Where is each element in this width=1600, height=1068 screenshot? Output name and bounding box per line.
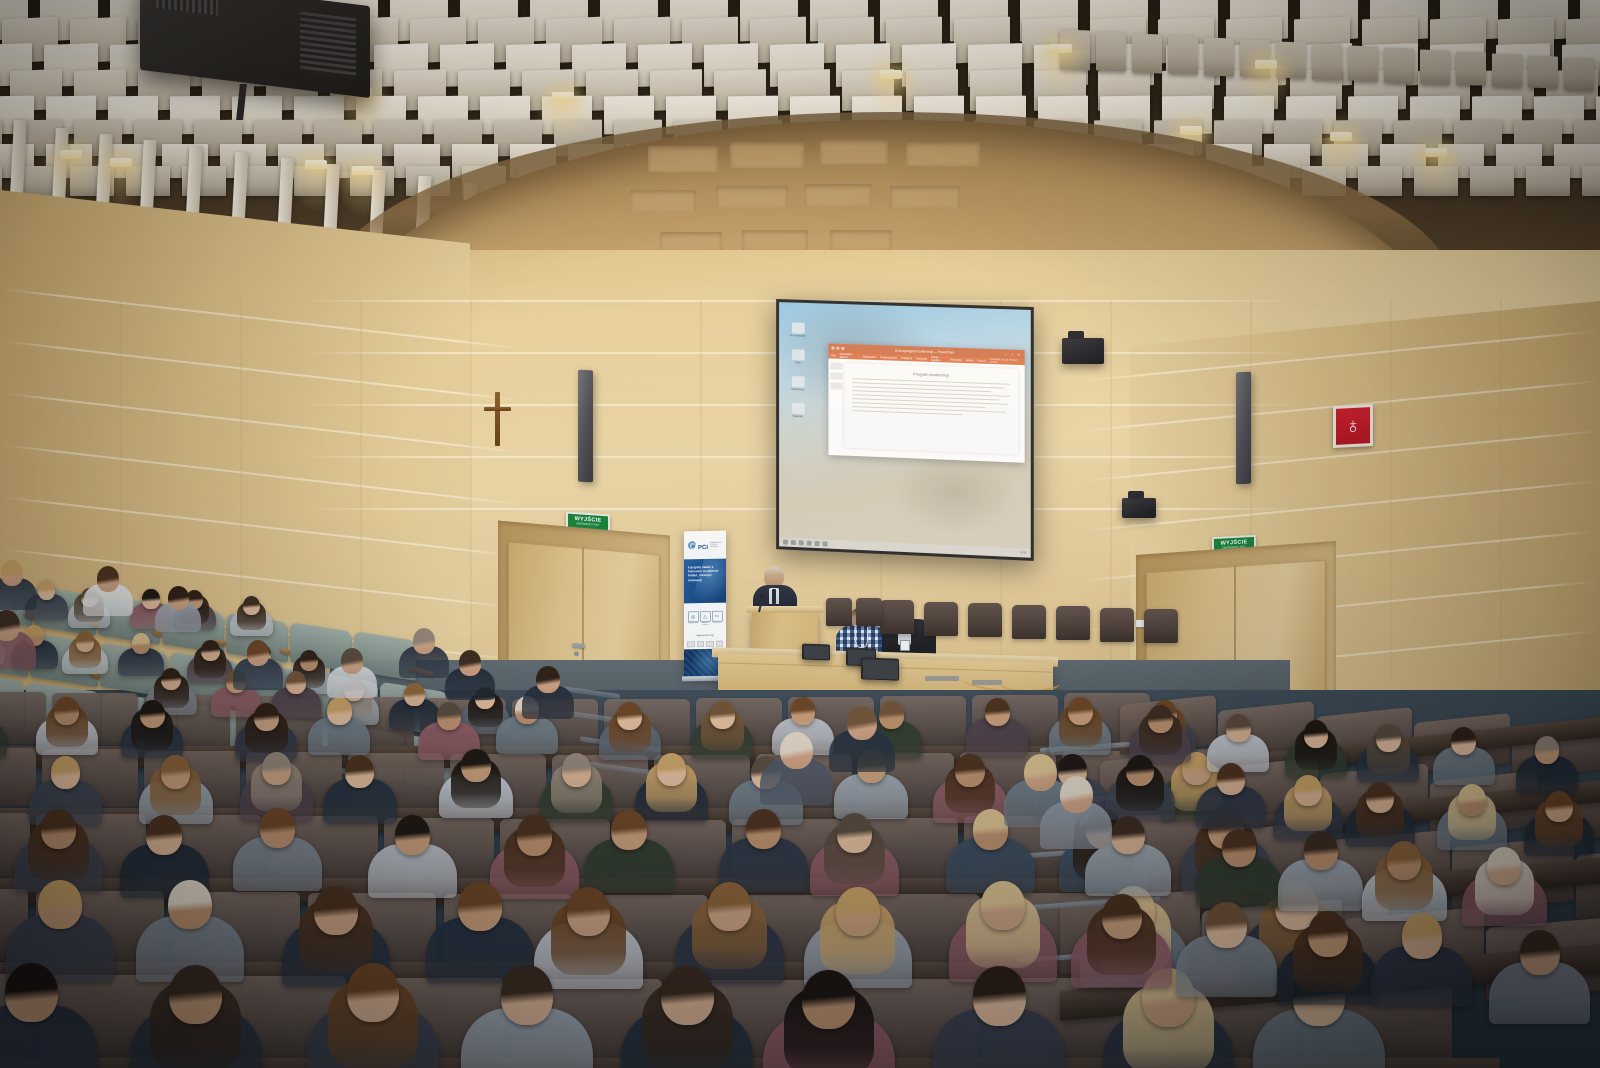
audience-member-head bbox=[1451, 727, 1476, 755]
wall-speaker-box-right bbox=[1062, 338, 1104, 364]
task-view-icon[interactable] bbox=[799, 540, 804, 545]
ribbon-tab-2[interactable]: Wstawianie bbox=[863, 355, 877, 358]
line-array-speaker-right bbox=[1236, 372, 1251, 485]
desktop-icon-ten-komputer[interactable]: Ten komputer bbox=[785, 322, 811, 338]
pci-logo-icon bbox=[688, 541, 696, 549]
presenter-tie bbox=[772, 589, 776, 604]
stage-chair bbox=[1056, 606, 1090, 640]
audience-member-head bbox=[168, 880, 211, 929]
audience-member-head bbox=[1294, 775, 1322, 807]
desk-cable-port-1 bbox=[925, 676, 959, 681]
audience-member-head bbox=[1060, 776, 1093, 813]
ribbon-tab-0[interactable]: Plik bbox=[831, 354, 835, 357]
audience-member-head bbox=[973, 966, 1026, 1026]
audience-member-head bbox=[395, 815, 431, 855]
ribbon-tab-9[interactable]: Pomoc bbox=[977, 359, 985, 362]
projector-vent bbox=[300, 12, 356, 79]
audience-member-head bbox=[247, 640, 270, 666]
audience-member-head bbox=[142, 589, 159, 608]
banner-logo: PCI Podkarpackie Centrum Innowacji bbox=[684, 531, 726, 558]
audience-member-head bbox=[1458, 784, 1486, 816]
audience-member-head bbox=[140, 700, 165, 728]
audience-member-head bbox=[345, 755, 374, 788]
audience-member-head bbox=[1487, 847, 1521, 886]
desktop-icon-list: Ten komputer Kosz Dokumenty Materiały bbox=[785, 322, 811, 430]
wooden-cross-icon bbox=[480, 392, 514, 446]
audience-member-head bbox=[1222, 829, 1256, 868]
ribbon-tab-5[interactable]: Animacje bbox=[916, 357, 927, 360]
stage-chair bbox=[1144, 609, 1178, 643]
quick-access-undo-icon[interactable] bbox=[836, 347, 839, 350]
audience-member-head bbox=[1387, 841, 1421, 880]
ribbon-tab-4[interactable]: Przejścia bbox=[901, 356, 912, 359]
taskbar-clock: 10:42 bbox=[1020, 551, 1027, 554]
audience-member-head bbox=[54, 697, 79, 725]
audience-member-head bbox=[437, 702, 462, 730]
window-controls[interactable]: – □ ✕ bbox=[1005, 352, 1021, 357]
audience-member-head bbox=[161, 755, 190, 788]
audience-member-head bbox=[0, 610, 20, 641]
desktop-icon-materialy[interactable]: Materiały bbox=[785, 403, 811, 419]
audience-member-head bbox=[1, 560, 24, 586]
audience-member-head bbox=[791, 697, 816, 725]
slide-text-line bbox=[852, 410, 962, 416]
audience-member-head bbox=[413, 628, 436, 654]
stage-chair bbox=[826, 598, 852, 626]
audience-member-head bbox=[836, 887, 879, 936]
audience-member-head bbox=[1376, 724, 1401, 752]
audience-member-head bbox=[1024, 754, 1057, 791]
audience-member-head bbox=[847, 706, 877, 740]
audience-member-head bbox=[746, 809, 782, 849]
desktop-icon-dokumenty[interactable]: Dokumenty bbox=[785, 376, 811, 392]
stage-chair bbox=[1012, 605, 1046, 639]
audience-member-head bbox=[459, 650, 482, 676]
powerpoint-window[interactable]: Lista wystąpień konferencji — PowerPoint… bbox=[828, 343, 1024, 462]
audience-member-head bbox=[168, 586, 189, 610]
audience-member-head bbox=[1304, 831, 1338, 870]
stage-chair bbox=[924, 602, 958, 636]
audience-member-head bbox=[562, 753, 591, 786]
ribbon-tab-8[interactable]: Widok bbox=[966, 359, 974, 362]
audience-member-head bbox=[1535, 736, 1560, 764]
audience-member-head bbox=[517, 815, 553, 855]
audience-member-head bbox=[314, 886, 357, 935]
circle-target-icon: ◎ bbox=[688, 611, 699, 622]
search-icon[interactable] bbox=[791, 540, 796, 545]
audience-member-head bbox=[708, 882, 751, 931]
line-array-speaker-left bbox=[578, 370, 593, 483]
banner-icon-row: ◎ Projekty B+R △ Badania i rozwój ✂ Inno… bbox=[684, 603, 726, 629]
audience-member-head bbox=[458, 882, 501, 931]
audience-member-head bbox=[41, 809, 77, 849]
stage-chair bbox=[1100, 608, 1134, 642]
audience-member-head bbox=[661, 966, 714, 1026]
audience-member-head bbox=[132, 633, 151, 654]
audience-member-head bbox=[461, 749, 490, 782]
exit-sign-left-subtext: EMERGENCY EXIT bbox=[576, 523, 599, 527]
audience-member-head bbox=[404, 683, 424, 706]
desktop-icon-kosz[interactable]: Kosz bbox=[785, 349, 811, 365]
audience-member-head bbox=[1520, 930, 1560, 976]
audience-member-head bbox=[97, 566, 120, 592]
projected-desktop: Ten komputer Kosz Dokumenty Materiały Li bbox=[779, 302, 1031, 558]
quick-access-save-icon[interactable] bbox=[831, 347, 834, 350]
stage-chair bbox=[880, 600, 914, 634]
wall-speaker-box-lower bbox=[1122, 498, 1156, 518]
audience-member-head bbox=[146, 815, 182, 855]
polish-coat-of-arms-icon: ♁ bbox=[1333, 404, 1373, 448]
emblem-eagle: ♁ bbox=[1336, 407, 1370, 445]
banner-sponsor-logos bbox=[684, 640, 726, 647]
audience-member-head bbox=[1366, 782, 1394, 814]
tools-icon: ✂ bbox=[712, 611, 723, 622]
laptop-right[interactable] bbox=[861, 657, 899, 680]
audience-member-head bbox=[262, 752, 291, 785]
audience-member-head bbox=[76, 631, 95, 652]
audience-member-head bbox=[38, 580, 55, 599]
document-canvas: Program konferencji bbox=[828, 358, 1024, 462]
stage-chair bbox=[856, 598, 882, 626]
audience-member-head bbox=[169, 965, 222, 1025]
audience-member-head bbox=[1217, 763, 1245, 795]
audience-member-head bbox=[286, 671, 306, 694]
banner-logo-subtitle: Podkarpackie Centrum Innowacji bbox=[710, 541, 722, 548]
audience-member-head bbox=[51, 756, 80, 789]
audience-member-head bbox=[260, 808, 296, 848]
audience-member-head bbox=[254, 703, 279, 731]
powerpoint-taskbar-icon[interactable] bbox=[823, 541, 828, 546]
audience-member-head bbox=[780, 732, 813, 769]
audience-member-head bbox=[981, 881, 1024, 930]
audience-member-head bbox=[1068, 697, 1093, 725]
audience-member-head bbox=[300, 650, 319, 671]
banner-icon-innovation: ✂ Innowacje bbox=[712, 611, 723, 627]
audience-member-head bbox=[327, 697, 352, 725]
audience-member-head bbox=[657, 753, 686, 786]
audience-member-head bbox=[201, 640, 220, 661]
slide-page: Program konferencji bbox=[844, 363, 1018, 455]
audience-member-head bbox=[955, 754, 984, 787]
audience-member-head bbox=[1226, 714, 1251, 742]
projection-screen: Ten komputer Kosz Dokumenty Materiały Li bbox=[776, 299, 1034, 561]
audience-member-head bbox=[611, 810, 647, 850]
audience-member-head bbox=[710, 701, 735, 729]
banner-icon-research: △ Badania i rozwój bbox=[700, 611, 711, 627]
quick-access-redo-icon[interactable] bbox=[841, 347, 844, 350]
browser-icon[interactable] bbox=[815, 541, 820, 546]
audience-member-head bbox=[1206, 902, 1246, 948]
explorer-icon[interactable] bbox=[807, 541, 812, 546]
start-button-icon[interactable] bbox=[783, 540, 788, 545]
banner-claim-panel: Łączymy naukę z biznesem w zakresie bada… bbox=[684, 559, 726, 604]
audience-member-head bbox=[5, 963, 58, 1023]
stage-chair bbox=[968, 603, 1002, 637]
banner-claim-text: Łączymy naukę z biznesem w zakresie bada… bbox=[684, 559, 726, 582]
laptop-left[interactable] bbox=[802, 644, 830, 661]
audience-member-head bbox=[802, 970, 855, 1030]
audience-member-head bbox=[985, 698, 1010, 726]
audience-member-head bbox=[347, 963, 400, 1023]
organizer-badge bbox=[900, 640, 910, 651]
audience-member-head bbox=[38, 880, 81, 929]
technician-lanyard bbox=[855, 627, 868, 648]
audience-member-head bbox=[567, 887, 610, 936]
audience-member-head bbox=[501, 965, 554, 1025]
audience-member-head bbox=[1545, 791, 1573, 823]
projector-grille bbox=[156, 0, 218, 15]
ribbon-tab-7[interactable]: Recenzja bbox=[951, 358, 962, 361]
ribbon-tab-3[interactable]: Projektowanie bbox=[880, 356, 897, 360]
audience-member-head bbox=[617, 702, 642, 730]
banner-url: www.pcinn.org bbox=[684, 633, 726, 637]
slide-thumbnail-pane[interactable] bbox=[830, 362, 842, 392]
audience-member-head bbox=[1148, 705, 1173, 733]
audience-member-head bbox=[1102, 894, 1142, 940]
banner-logo-text: PCI bbox=[698, 545, 708, 551]
slide-body-lines bbox=[852, 378, 1010, 417]
banner-icon-projects: ◎ Projekty B+R bbox=[688, 611, 699, 627]
audience-member-head bbox=[1304, 720, 1329, 748]
audience-member-head bbox=[341, 648, 364, 674]
audience-member-head bbox=[1111, 816, 1145, 855]
audience-member-head bbox=[1402, 913, 1442, 959]
auditorium-photo: ♁ WYJŚCIE EMERGENCY EXIT WYJŚCIE EMERGEN… bbox=[0, 0, 1600, 1068]
audience-member-head bbox=[879, 701, 904, 729]
audience-member-head bbox=[1308, 911, 1348, 957]
triangle-flask-icon: △ bbox=[700, 611, 711, 622]
audience-member-head bbox=[536, 666, 560, 693]
audience-member-head bbox=[837, 813, 873, 853]
audience-member-head bbox=[1126, 755, 1154, 787]
